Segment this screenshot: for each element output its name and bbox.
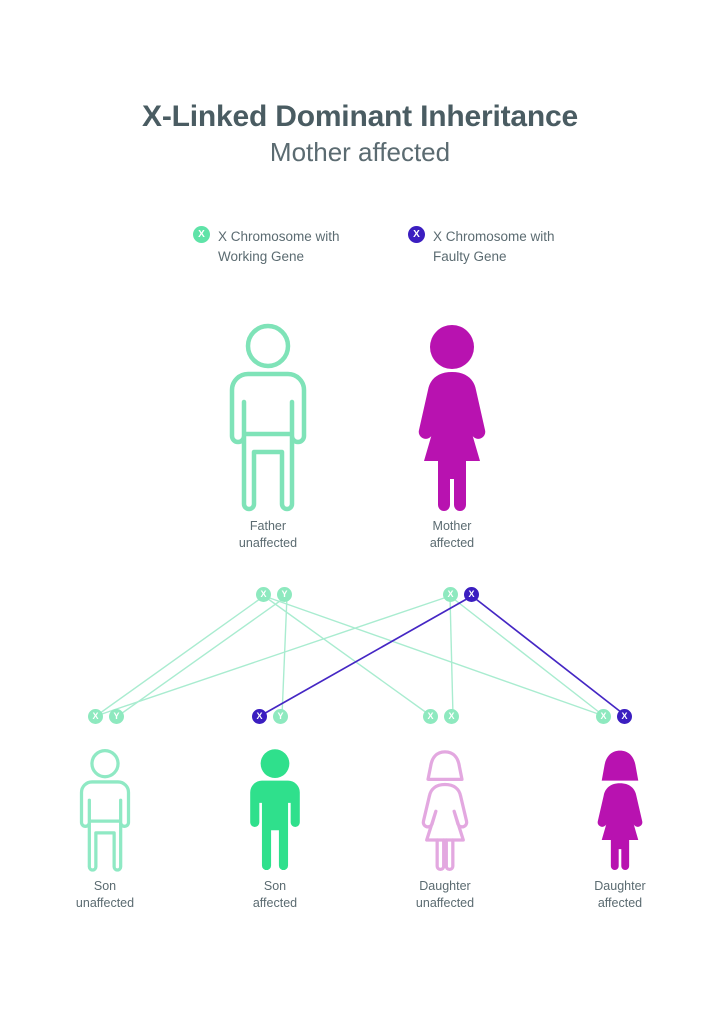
legend-label-faulty-gene: X Chromosome with Faulty Gene xyxy=(433,226,555,266)
daughter-unaffected-chromosomes: X X xyxy=(423,709,459,724)
line-father-y-to-son-unaffected-y xyxy=(118,596,287,716)
page-title: X-Linked Dominant Inheritance Mother aff… xyxy=(0,100,720,168)
son-affected-chromosome-x-faulty: X xyxy=(252,709,267,724)
father-chromosome-y: Y xyxy=(277,587,292,602)
chromosome-x-working-icon: X xyxy=(193,226,210,243)
father-caption: Father unaffected xyxy=(208,518,328,552)
line-mother-x-working-to-son-unaffected xyxy=(96,596,450,716)
son-unaffected-chromosome-x: X xyxy=(88,709,103,724)
person-mother: Mother affected xyxy=(392,322,512,552)
title-subtitle: Mother affected xyxy=(0,136,720,169)
title-main: X-Linked Dominant Inheritance xyxy=(0,100,720,134)
daughter-unaffected-figure-icon xyxy=(407,748,483,872)
daughter-affected-caption: Daughter affected xyxy=(573,878,667,912)
son-unaffected-figure-icon xyxy=(67,748,143,872)
chromosome-x-faulty-icon: X xyxy=(408,226,425,243)
line-father-x-to-son-unaffected xyxy=(96,596,264,716)
line-mother-x-faulty-to-daughter-affected xyxy=(472,596,626,716)
mother-figure-icon xyxy=(402,322,502,512)
son-unaffected-caption: Son unaffected xyxy=(58,878,152,912)
daughter-affected-chromosome-x-faulty: X xyxy=(617,709,632,724)
legend-label-working-gene: X Chromosome with Working Gene xyxy=(218,226,340,266)
legend-item-faulty-gene: X X Chromosome with Faulty Gene xyxy=(408,226,555,266)
son-affected-caption: Son affected xyxy=(228,878,322,912)
person-daughter-unaffected: Daughter unaffected xyxy=(398,748,492,912)
daughter-affected-chromosomes: X X xyxy=(596,709,632,724)
mother-chromosome-x-faulty: X xyxy=(464,587,479,602)
father-figure-icon xyxy=(218,322,318,512)
person-daughter-affected: Daughter affected xyxy=(573,748,667,912)
son-affected-chromosomes: X Y xyxy=(252,709,288,724)
mother-chromosome-x-working: X xyxy=(443,587,458,602)
son-affected-figure-icon xyxy=(237,748,313,872)
son-unaffected-chromosomes: X Y xyxy=(88,709,124,724)
daughter-affected-figure-icon xyxy=(582,748,658,872)
daughter-unaffected-caption: Daughter unaffected xyxy=(398,878,492,912)
person-father: Father unaffected xyxy=(208,322,328,552)
father-chromosome-x: X xyxy=(256,587,271,602)
mother-chromosomes: X X xyxy=(443,587,479,602)
legend-item-working-gene: X X Chromosome with Working Gene xyxy=(193,226,340,266)
line-mother-x-faulty-to-son-affected xyxy=(260,596,472,716)
mother-caption: Mother affected xyxy=(392,518,512,552)
person-son-affected: Son affected xyxy=(228,748,322,912)
daughter-unaffected-chromosome-x2: X xyxy=(444,709,459,724)
inheritance-diagram: X-Linked Dominant Inheritance Mother aff… xyxy=(0,0,720,1018)
line-father-y-to-son-affected-y xyxy=(282,596,287,716)
line-father-x-to-daughter-unaffected xyxy=(264,596,431,716)
line-mother-x-working-to-daughter-affected xyxy=(450,596,604,716)
daughter-unaffected-chromosome-x1: X xyxy=(423,709,438,724)
daughter-affected-chromosome-x-working: X xyxy=(596,709,611,724)
line-father-x-to-daughter-affected xyxy=(264,596,604,716)
son-unaffected-chromosome-y: Y xyxy=(109,709,124,724)
person-son-unaffected: Son unaffected xyxy=(58,748,152,912)
line-mother-x-working-to-daughter-unaffected xyxy=(450,596,453,716)
son-affected-chromosome-y: Y xyxy=(273,709,288,724)
father-chromosomes: X Y xyxy=(256,587,292,602)
